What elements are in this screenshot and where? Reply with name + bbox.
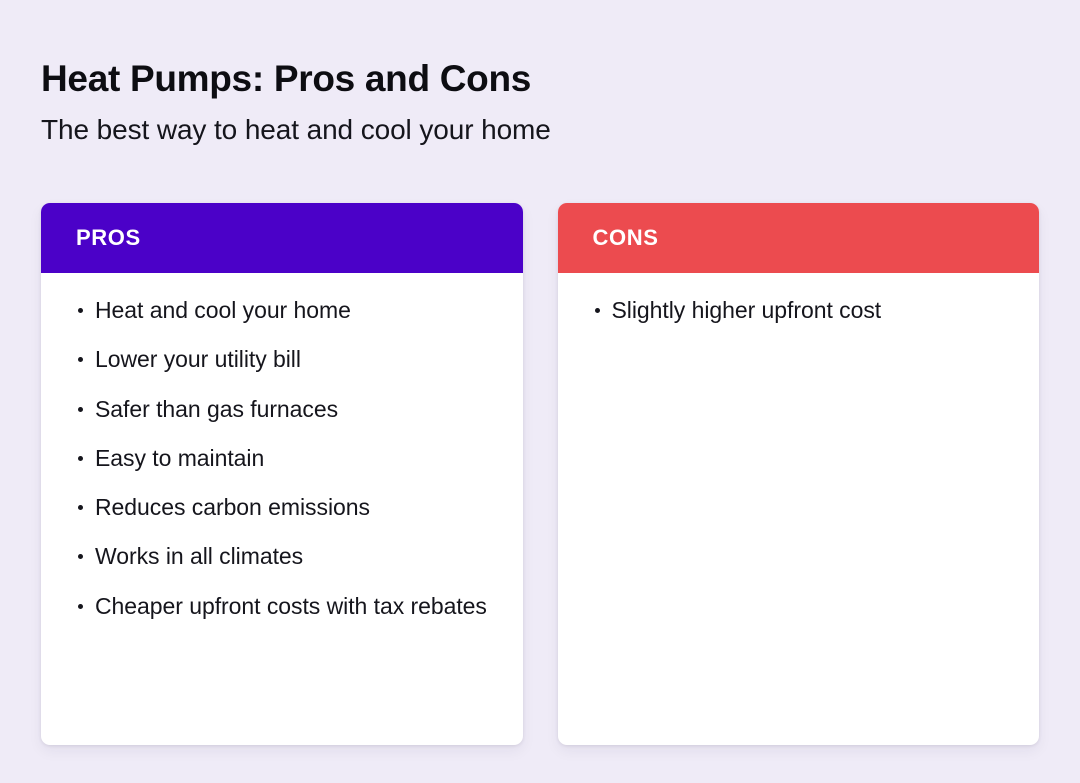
- list-item: Slightly higher upfront cost: [588, 295, 1010, 326]
- bullet-dot-icon: [595, 308, 600, 313]
- bullet-dot-icon: [78, 407, 83, 412]
- cons-card-header-label: CONS: [593, 225, 659, 251]
- list-item: Heat and cool your home: [71, 295, 493, 326]
- bullet-dot-icon: [78, 554, 83, 559]
- list-item-label: Easy to maintain: [95, 445, 264, 471]
- list-item-label: Lower your utility bill: [95, 346, 301, 372]
- cons-list: Slightly higher upfront cost: [588, 295, 1010, 326]
- comparison-cards: PROS Heat and cool your home Lower your …: [41, 203, 1039, 745]
- pros-card-header-label: PROS: [76, 225, 141, 251]
- pros-card-header: PROS: [41, 203, 523, 273]
- cons-card-body: Slightly higher upfront cost: [558, 273, 1040, 745]
- list-item-label: Works in all climates: [95, 543, 303, 569]
- bullet-dot-icon: [78, 456, 83, 461]
- page-subtitle: The best way to heat and cool your home: [41, 113, 1001, 147]
- header-block: Heat Pumps: Pros and Cons The best way t…: [41, 58, 1001, 146]
- pros-card-body: Heat and cool your home Lower your utili…: [41, 273, 523, 745]
- list-item: Easy to maintain: [71, 443, 493, 474]
- bullet-dot-icon: [78, 505, 83, 510]
- list-item: Lower your utility bill: [71, 344, 493, 375]
- cons-card-header: CONS: [558, 203, 1040, 273]
- list-item: Safer than gas furnaces: [71, 394, 493, 425]
- pros-card: PROS Heat and cool your home Lower your …: [41, 203, 523, 745]
- infographic-page: Heat Pumps: Pros and Cons The best way t…: [0, 0, 1080, 783]
- page-title: Heat Pumps: Pros and Cons: [41, 58, 1001, 101]
- list-item-label: Heat and cool your home: [95, 297, 351, 323]
- bullet-dot-icon: [78, 308, 83, 313]
- bullet-dot-icon: [78, 357, 83, 362]
- list-item: Cheaper upfront costs with tax rebates: [71, 591, 493, 622]
- list-item-label: Cheaper upfront costs with tax rebates: [95, 593, 487, 619]
- list-item: Works in all climates: [71, 541, 493, 572]
- list-item: Reduces carbon emissions: [71, 492, 493, 523]
- list-item-label: Reduces carbon emissions: [95, 494, 370, 520]
- list-item-label: Safer than gas furnaces: [95, 396, 338, 422]
- cons-card: CONS Slightly higher upfront cost: [558, 203, 1040, 745]
- bullet-dot-icon: [78, 604, 83, 609]
- list-item-label: Slightly higher upfront cost: [612, 297, 882, 323]
- pros-list: Heat and cool your home Lower your utili…: [71, 295, 493, 622]
